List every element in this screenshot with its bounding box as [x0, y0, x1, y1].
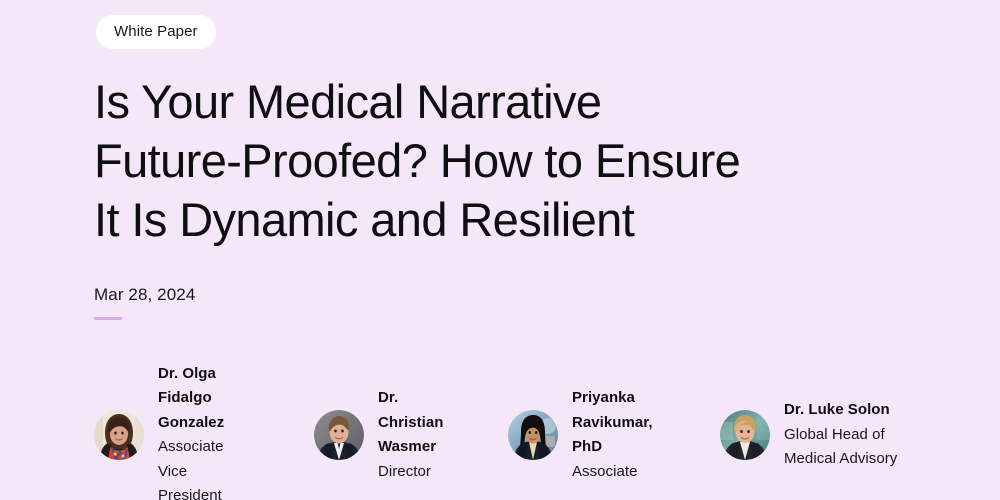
- content-type-badge[interactable]: White Paper: [96, 15, 216, 49]
- page-title-line-3: It Is Dynamic and Resilient: [94, 190, 944, 249]
- avatar-christian-wasmer: [314, 410, 364, 460]
- author-role: Associate Vice President: [158, 435, 244, 500]
- author-item[interactable]: Dr. Luke Solon Global Head of Medical Ad…: [720, 372, 944, 498]
- accent-rule: [94, 317, 122, 320]
- author-text: Dr. Olga Fidalgo Gonzalez Associate Vice…: [158, 362, 244, 500]
- author-item[interactable]: Priyanka Ravikumar, PhD Associate: [508, 372, 720, 498]
- page-title-line-1: Is Your Medical Narrative: [94, 72, 944, 131]
- avatar-olga-fidalgo-gonzalez: [94, 410, 144, 460]
- page-title-line-2: Future-Proofed? How to Ensure: [94, 131, 944, 190]
- white-paper-hero: White Paper Is Your Medical Narrative Fu…: [0, 0, 1000, 500]
- publish-date: Mar 28, 2024: [94, 284, 195, 306]
- avatar-luke-solon: [720, 410, 770, 460]
- author-text: Dr. Luke Solon Global Head of Medical Ad…: [784, 398, 934, 472]
- author-name: Dr. Luke Solon: [784, 398, 934, 423]
- avatar-priyanka-ravikumar: [508, 410, 558, 460]
- publish-date-block: Mar 28, 2024: [94, 284, 195, 320]
- author-item[interactable]: Dr. Olga Fidalgo Gonzalez Associate Vice…: [94, 372, 314, 498]
- author-role: Global Head of Medical Advisory: [784, 423, 934, 472]
- author-role: Associate: [572, 460, 676, 485]
- author-role: Director: [378, 460, 462, 485]
- author-name: Dr. Christian Wasmer: [378, 386, 462, 460]
- author-text: Dr. Christian Wasmer Director: [378, 386, 462, 484]
- author-list: Dr. Olga Fidalgo Gonzalez Associate Vice…: [94, 372, 944, 500]
- author-name: Dr. Olga Fidalgo Gonzalez: [158, 362, 244, 436]
- badge-row: White Paper: [96, 15, 216, 49]
- author-name: Priyanka Ravikumar, PhD: [572, 386, 676, 460]
- author-item[interactable]: Dr. Christian Wasmer Director: [314, 372, 508, 498]
- author-text: Priyanka Ravikumar, PhD Associate: [572, 386, 676, 484]
- page-title: Is Your Medical Narrative Future-Proofed…: [94, 72, 944, 249]
